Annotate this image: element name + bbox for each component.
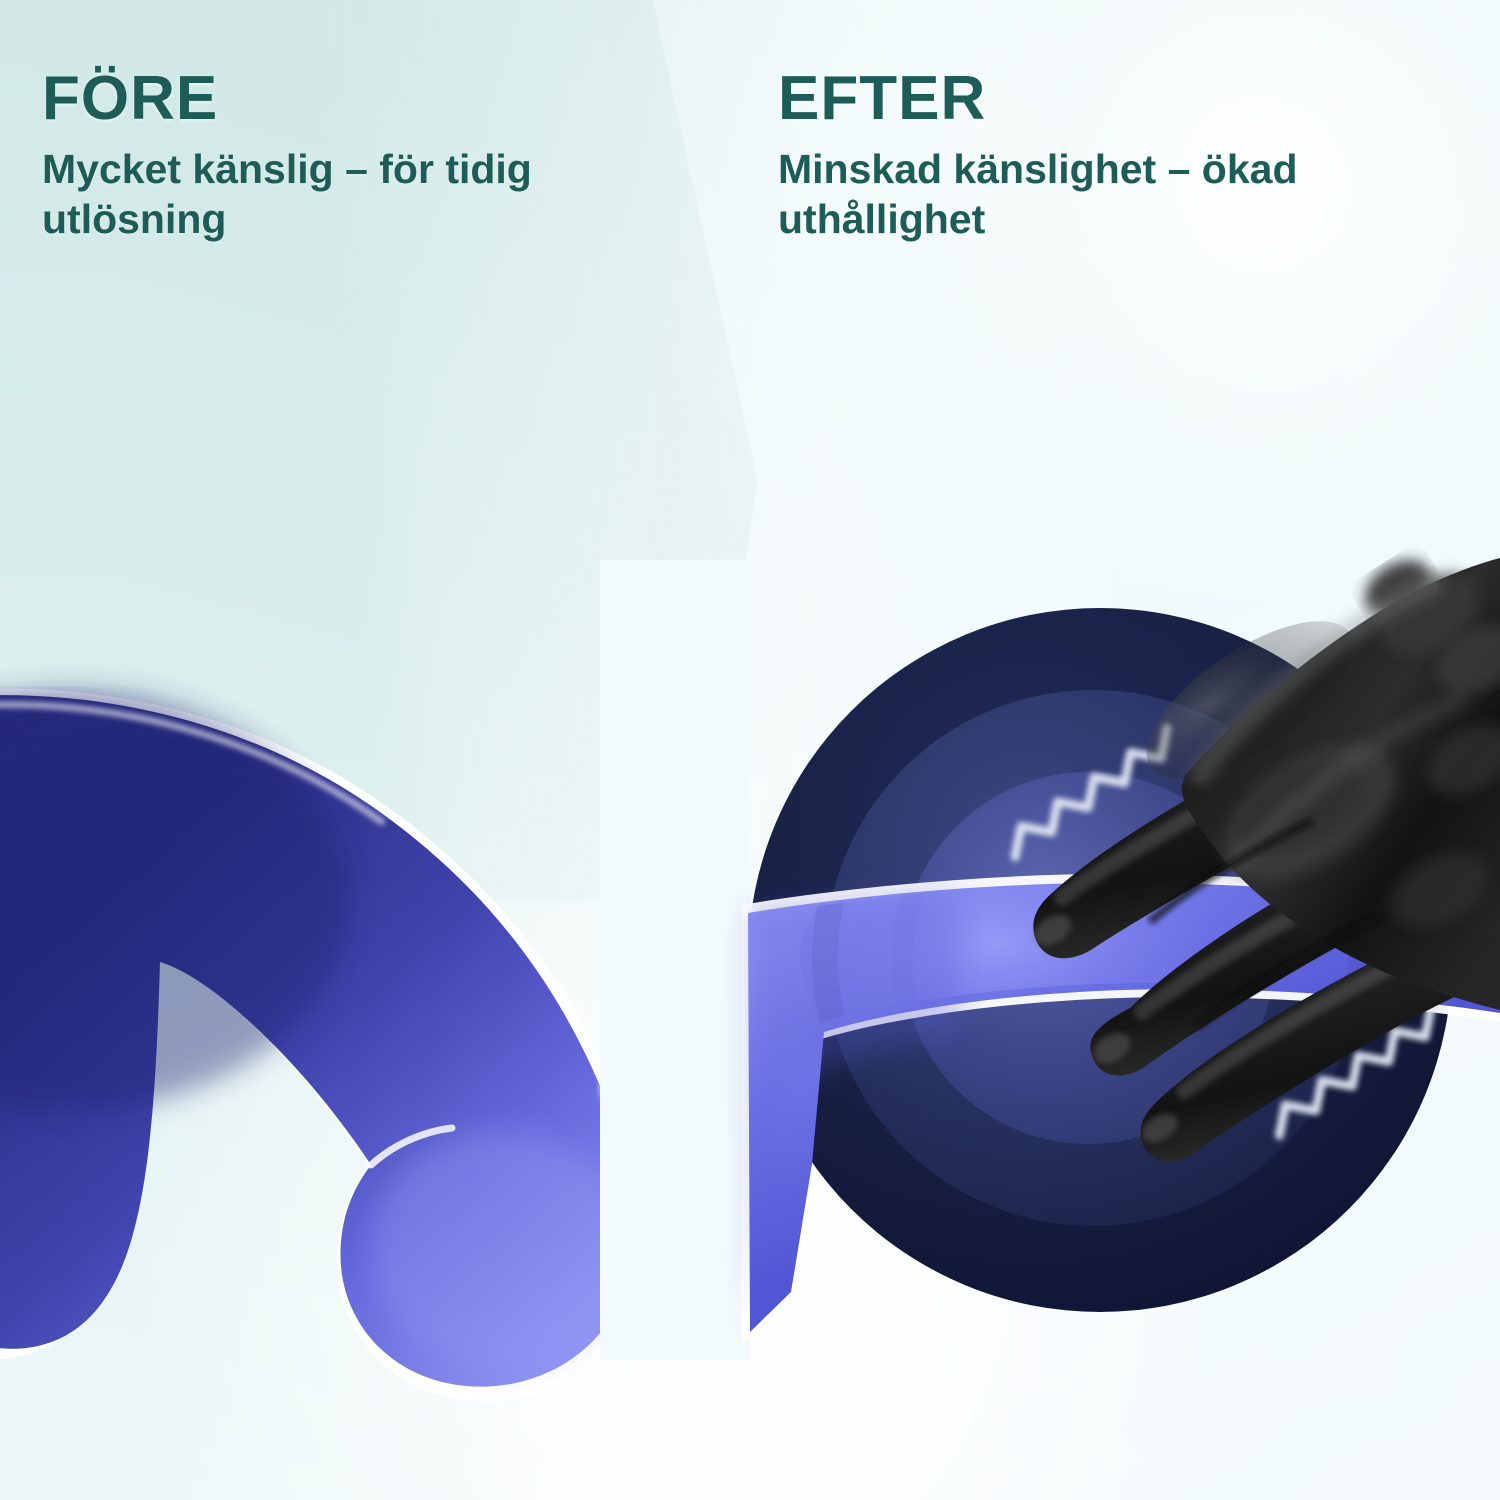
panel-before: FÖRE Mycket känslig – för tidig utlösnin… (42, 68, 642, 244)
comparison-banner: FÖRE Mycket känslig – för tidig utlösnin… (0, 0, 1500, 1500)
background-glow-bottom (150, 900, 1200, 1500)
panel-after: EFTER Minskad känslighet – ökad uthållig… (778, 68, 1408, 244)
after-subtitle: Minskad känslighet – ökad uthållighet (778, 144, 1408, 244)
before-kicker: FÖRE (42, 68, 642, 130)
before-subtitle: Mycket känslig – för tidig utlösning (42, 144, 642, 244)
after-kicker: EFTER (778, 68, 1408, 130)
